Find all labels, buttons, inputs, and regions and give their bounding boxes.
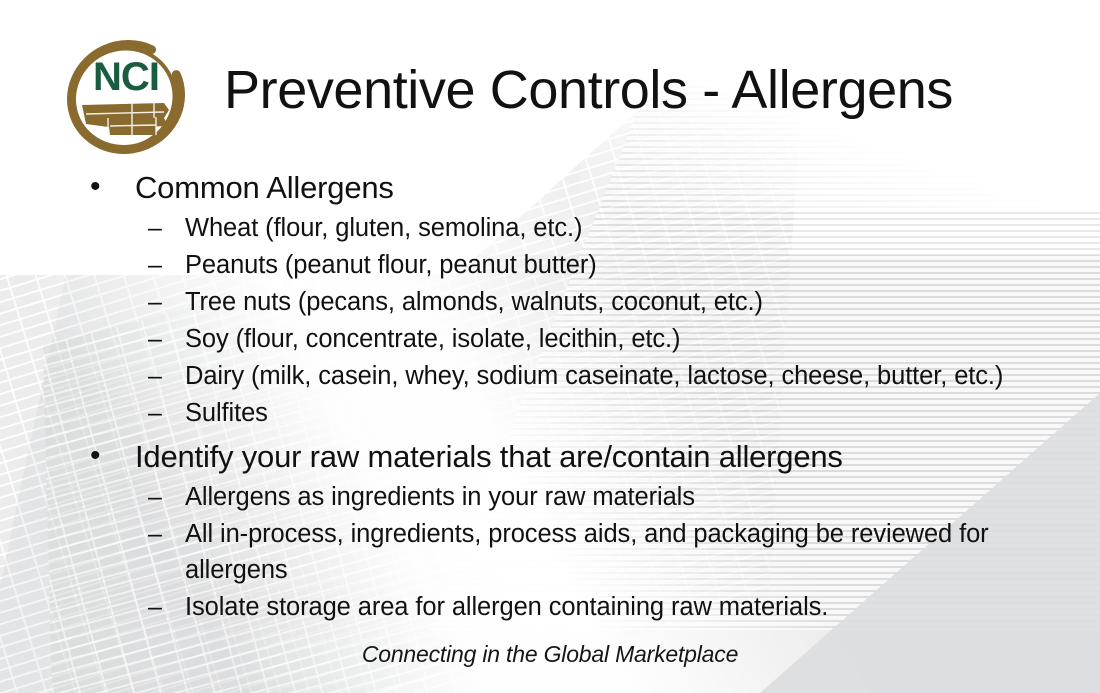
bullet-dash-icon: – (148, 247, 185, 283)
footer-tagline: Connecting in the Global Marketplace (0, 641, 1100, 668)
bullet-text: Sulfites (185, 395, 268, 431)
bullet-dash-icon: – (148, 479, 185, 515)
bullet-dash-icon: – (148, 516, 185, 552)
bullet-level1: • Common Allergens (0, 168, 1100, 208)
bullet-text: Soy (flour, concentrate, isolate, lecith… (185, 321, 680, 357)
slide-body: • Common Allergens – Wheat (flour, glute… (0, 168, 1100, 626)
bullet-dash-icon: – (148, 358, 185, 394)
bullet-level2: – Isolate storage area for allergen cont… (0, 589, 1100, 625)
bullet-dash-icon: – (148, 321, 185, 357)
bullet-dash-icon: – (148, 395, 185, 431)
bullet-level2: – Tree nuts (pecans, almonds, walnuts, c… (0, 284, 1100, 320)
bullet-level1: • Identify your raw materials that are/c… (0, 437, 1100, 477)
bullet-level2: – Wheat (flour, gluten, semolina, etc.) (0, 210, 1100, 246)
bullet-text: Tree nuts (pecans, almonds, walnuts, coc… (185, 284, 763, 320)
bullet-level2: – Sulfites (0, 395, 1100, 431)
slide-title: Preventive Controls - Allergens (224, 59, 953, 121)
bullet-text: Isolate storage area for allergen contai… (185, 589, 828, 625)
bullet-dash-icon: – (148, 589, 185, 625)
bullet-text: Common Allergens (135, 168, 394, 208)
bullet-level2: – All in-process, ingredients, process a… (0, 516, 1100, 588)
bullet-dash-icon: – (148, 284, 185, 320)
bullet-text: Peanuts (peanut flour, peanut butter) (185, 247, 597, 283)
bullet-text: Dairy (milk, casein, whey, sodium casein… (185, 358, 1003, 394)
bullet-dot-icon: • (90, 168, 135, 206)
bullet-level2: – Allergens as ingredients in your raw m… (0, 479, 1100, 515)
bullet-text: Identify your raw materials that are/con… (135, 437, 843, 477)
bullet-text: All in-process, ingredients, process aid… (185, 516, 1065, 588)
nci-logo: NCI (56, 32, 196, 162)
bullet-text: Allergens as ingredients in your raw mat… (185, 479, 695, 515)
bullet-text: Wheat (flour, gluten, semolina, etc.) (185, 210, 582, 246)
bullet-level2: – Peanuts (peanut flour, peanut butter) (0, 247, 1100, 283)
presentation-slide: NORTHERN CROPS INSTITUTE NCI (0, 0, 1100, 693)
bullet-dot-icon: • (90, 437, 135, 475)
bullet-dash-icon: – (148, 210, 185, 246)
svg-text:NCI: NCI (93, 55, 159, 99)
bullet-level2: – Soy (flour, concentrate, isolate, leci… (0, 321, 1100, 357)
bullet-level2: – Dairy (milk, casein, whey, sodium case… (0, 358, 1100, 394)
